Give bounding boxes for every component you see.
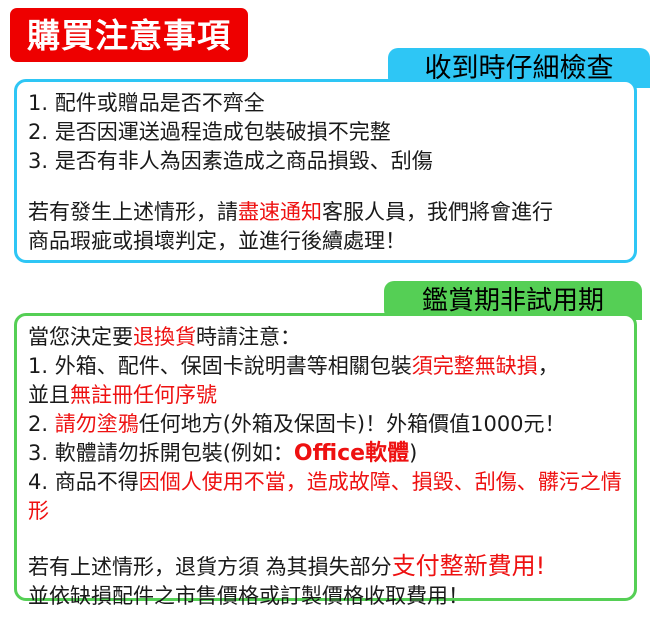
return-item-4-prefix: 4. 商品不得 [28, 470, 139, 494]
notice-page: 購買注意事項 收到時仔細檢查 1. 配件或贈品是否不齊全 2. 是否因運送過程造… [0, 0, 650, 622]
inspect-item-2: 2. 是否因運送過程造成包裝破損不完整 [28, 118, 634, 147]
return-item-1-mid: ， [538, 354, 559, 378]
return-intro-highlight: 退換貨 [133, 325, 196, 349]
return-item-1-prefix: 1. 外箱、配件、保固卡說明書等相關包裝 [28, 354, 412, 378]
return-intro-before: 當您決定要 [28, 325, 133, 349]
return-item-1-line-2-prefix: 並且 [28, 383, 70, 407]
return-spacer [28, 526, 634, 552]
inspect-spacer [28, 176, 634, 198]
return-item-1-line-1: 1. 外箱、配件、保固卡說明書等相關包裝須完整無缺損， [28, 352, 634, 381]
inspect-note-line-2: 商品瑕疵或損壞判定，並進行後續處理！ [28, 227, 634, 256]
inspect-item-3: 3. 是否有非人為因素造成之商品損毀、刮傷 [28, 147, 634, 176]
return-item-3-after: ) [409, 441, 417, 465]
return-policy-box: 當您決定要退換貨時請注意： 1. 外箱、配件、保固卡說明書等相關包裝須完整無缺損… [14, 313, 637, 601]
inspect-item-1: 1. 配件或贈品是否不齊全 [28, 89, 634, 118]
return-item-2-line: 2. 請勿塗鴉任何地方(外箱及保固卡)！外箱價值1000元！ [28, 410, 634, 439]
cooling-off-period-banner-text: 鑑賞期非試用期 [422, 288, 604, 314]
purchase-notice-title-text: 購買注意事項 [27, 19, 231, 52]
return-note-line-2: 並依缺損配件之市售價格或訂製價格收取費用！ [28, 582, 634, 611]
return-note-highlight: 支付整新費用! [392, 552, 546, 580]
return-note-line-1: 若有上述情形，退貨方須 為其損失部分支付整新費用! [28, 552, 634, 582]
return-item-4-line: 4. 商品不得因個人使用不當，造成故障、損毀、刮傷、髒污之情形 [28, 468, 634, 526]
return-intro-after: 時請注意： [196, 325, 301, 349]
return-item-2-prefix: 2. [28, 412, 55, 436]
inspect-box-content: 1. 配件或贈品是否不齊全 2. 是否因運送過程造成包裝破損不完整 3. 是否有… [17, 82, 634, 256]
return-item-3-line: 3. 軟體請勿拆開包裝(例如：Office軟體) [28, 439, 634, 468]
inspect-note-line-1-before: 若有發生上述情形，請 [28, 200, 238, 224]
return-item-1-line-2: 並且無註冊任何序號 [28, 381, 634, 410]
inspect-note-line-1-after: 客服人員，我們將會進行 [322, 200, 553, 224]
return-item-2-highlight: 請勿塗鴉 [55, 412, 139, 436]
inspect-note-line-1: 若有發生上述情形，請盡速通知客服人員，我們將會進行 [28, 198, 634, 227]
inspect-note-highlight: 盡速通知 [238, 200, 322, 224]
return-item-2-after: 任何地方(外箱及保固卡)！外箱價值1000元！ [139, 412, 566, 436]
return-item-3-highlight: Office軟體 [294, 441, 409, 466]
return-box-content: 當您決定要退換貨時請注意： 1. 外箱、配件、保固卡說明書等相關包裝須完整無缺損… [17, 316, 634, 611]
purchase-notice-title-banner: 購買注意事項 [10, 8, 248, 62]
return-item-3-prefix: 3. 軟體請勿拆開包裝(例如： [28, 441, 294, 465]
return-intro-line: 當您決定要退換貨時請注意： [28, 323, 634, 352]
return-item-1-highlight-2: 無註冊任何序號 [70, 383, 217, 407]
return-note-line-1-before: 若有上述情形，退貨方須 為其損失部分 [28, 555, 392, 579]
inspect-on-receipt-box: 1. 配件或贈品是否不齊全 2. 是否因運送過程造成包裝破損不完整 3. 是否有… [14, 79, 637, 263]
return-item-1-highlight-1: 須完整無缺損 [412, 354, 538, 378]
inspect-on-receipt-banner-text: 收到時仔細檢查 [425, 55, 614, 82]
